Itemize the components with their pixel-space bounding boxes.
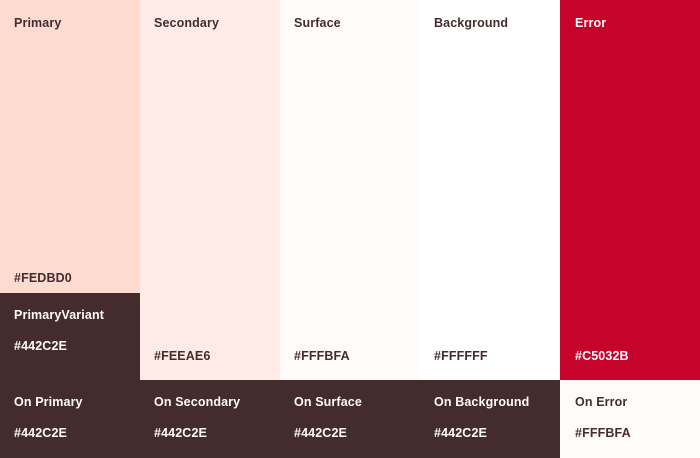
swatch-name: On Background (434, 395, 529, 409)
palette-column-secondary: Secondary #FEEAE6 On Secondary #442C2E (140, 0, 280, 458)
swatch-background[interactable]: Background #FFFFFF (420, 0, 560, 380)
swatch-on-primary[interactable]: On Primary #442C2E (0, 380, 140, 458)
swatch-on-background[interactable]: On Background #442C2E (420, 380, 560, 458)
swatch-name: Background (434, 16, 508, 30)
swatch-on-error[interactable]: On Error #FFFBFA (560, 380, 700, 458)
swatch-hex: #442C2E (294, 426, 347, 440)
swatch-name: On Error (575, 395, 627, 409)
swatch-name: Secondary (154, 16, 219, 30)
swatch-hex: #FFFFFF (434, 349, 488, 363)
palette-column-error: Error #C5032B On Error #FFFBFA (560, 0, 700, 458)
swatch-hex: #FEDBD0 (14, 271, 72, 285)
swatch-hex: #FFFBFA (575, 426, 631, 440)
swatch-name: Error (575, 16, 606, 30)
swatch-error[interactable]: Error #C5032B (560, 0, 700, 380)
swatch-hex: #442C2E (434, 426, 487, 440)
swatch-hex: #442C2E (14, 426, 67, 440)
swatch-on-surface[interactable]: On Surface #442C2E (280, 380, 420, 458)
color-palette: Primary #FEDBD0 PrimaryVariant #442C2E O… (0, 0, 700, 458)
swatch-primary-variant[interactable]: PrimaryVariant #442C2E (0, 293, 140, 380)
swatch-hex: #FEEAE6 (154, 349, 210, 363)
swatch-name: Primary (14, 16, 61, 30)
swatch-name: On Primary (14, 395, 83, 409)
swatch-on-secondary[interactable]: On Secondary #442C2E (140, 380, 280, 458)
palette-column-primary: Primary #FEDBD0 PrimaryVariant #442C2E O… (0, 0, 140, 458)
swatch-primary[interactable]: Primary #FEDBD0 (0, 0, 140, 293)
swatch-name: Surface (294, 16, 341, 30)
swatch-hex: #C5032B (575, 349, 629, 363)
swatch-secondary[interactable]: Secondary #FEEAE6 (140, 0, 280, 380)
swatch-name: PrimaryVariant (14, 308, 104, 322)
swatch-hex: #FFFBFA (294, 349, 350, 363)
palette-column-background: Background #FFFFFF On Background #442C2E (420, 0, 560, 458)
palette-column-surface: Surface #FFFBFA On Surface #442C2E (280, 0, 420, 458)
swatch-name: On Surface (294, 395, 362, 409)
swatch-hex: #442C2E (154, 426, 207, 440)
swatch-surface[interactable]: Surface #FFFBFA (280, 0, 420, 380)
swatch-hex: #442C2E (14, 339, 67, 353)
swatch-name: On Secondary (154, 395, 240, 409)
